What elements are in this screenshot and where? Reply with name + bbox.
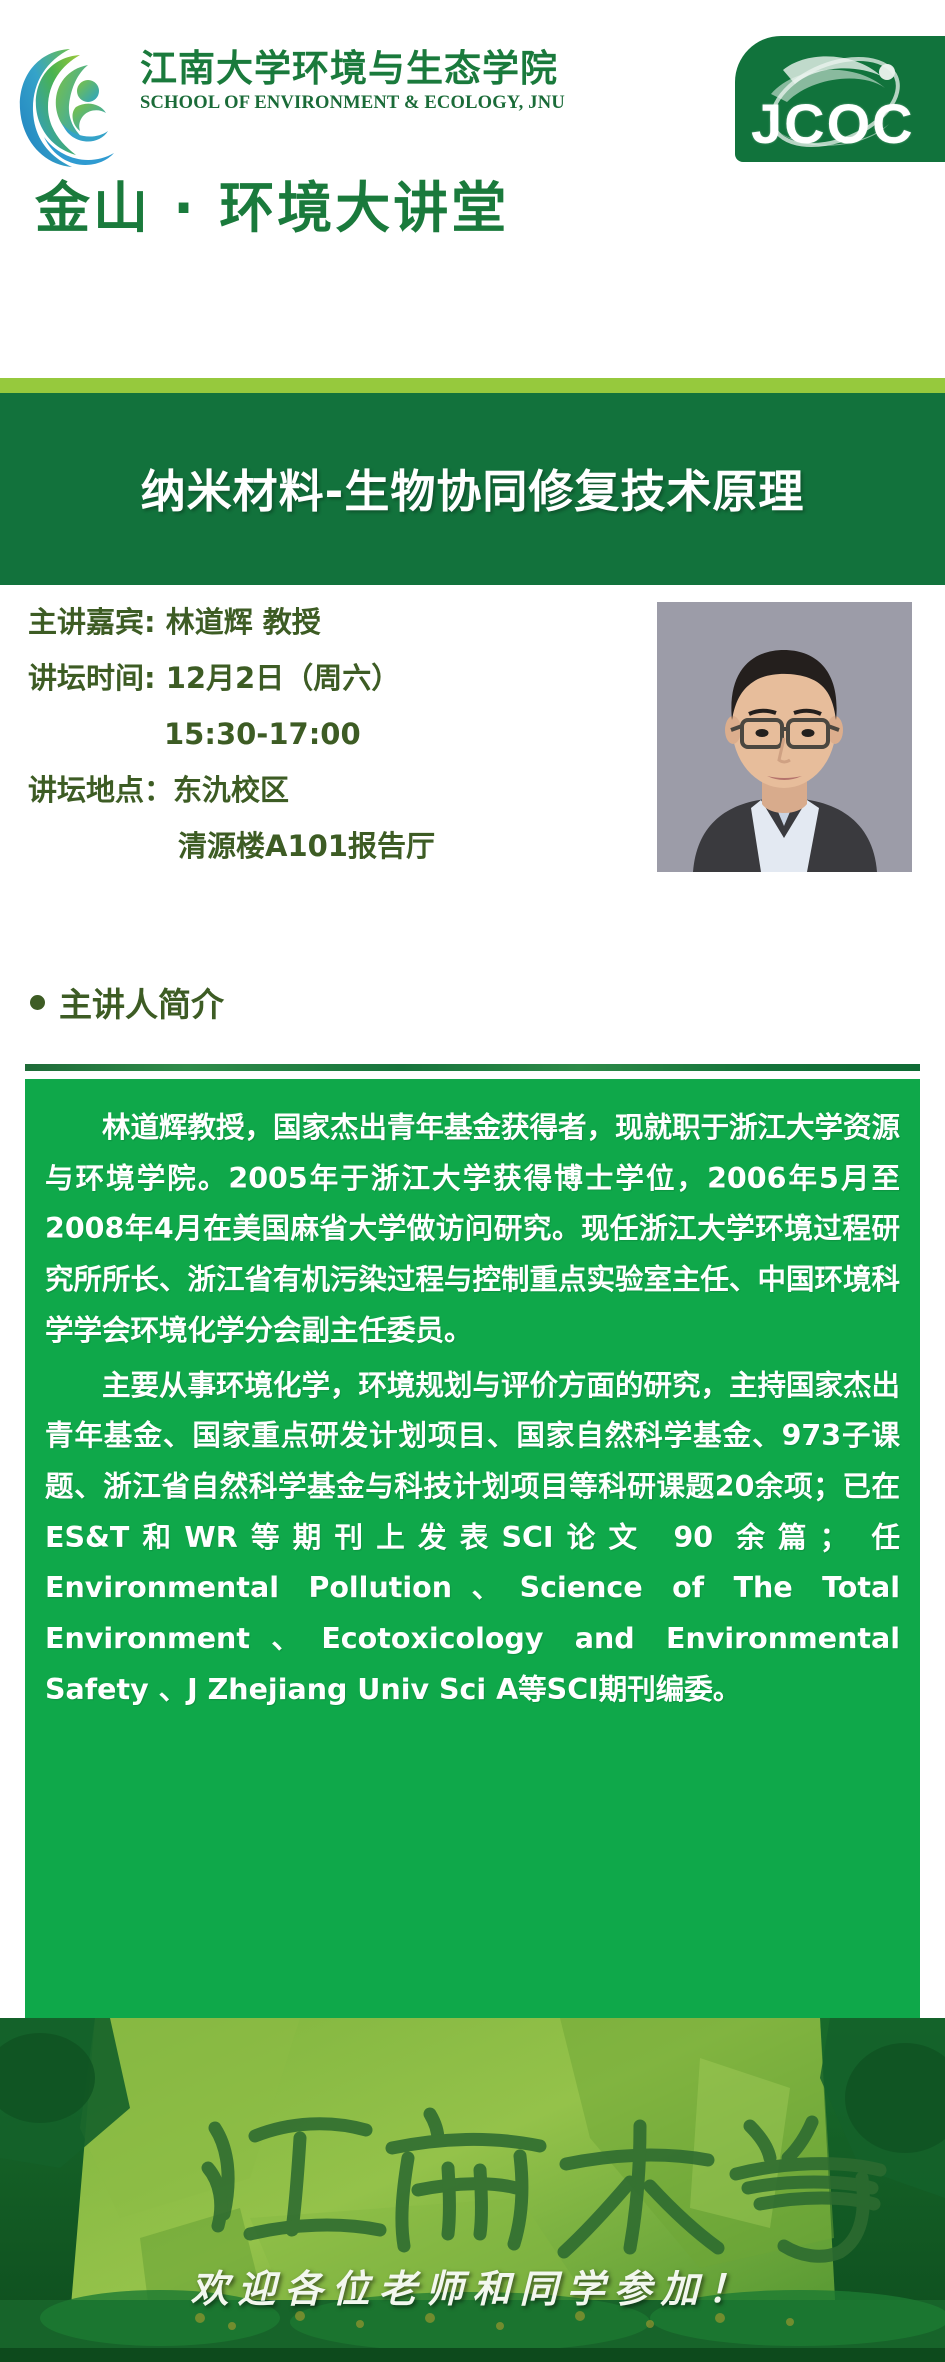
venue-row-2: 清源楼A101报告厅 xyxy=(28,832,628,861)
bio-paragraph-1: 林道辉教授，国家杰出青年基金获得者，现就职于浙江大学资源与环境学院。2005年于… xyxy=(45,1103,900,1357)
lecture-title: 纳米材料-生物协同修复技术原理 xyxy=(0,455,945,520)
section-divider xyxy=(25,1064,920,1071)
poster-root: 江南大学环境与生态学院 SCHOOL OF ENVIRONMENT & ECOL… xyxy=(0,0,945,2362)
bullet-dot-icon xyxy=(30,995,45,1010)
title-band-light-stripe xyxy=(0,378,945,393)
jcoc-badge: JCOC xyxy=(735,36,945,162)
bio-paragraph-2: 主要从事环境化学，环境规划与评价方面的研究，主持国家杰出青年基金、国家重点研发计… xyxy=(45,1361,900,1716)
bio-heading: 主讲人简介 xyxy=(30,978,224,1026)
time-row-2: 15:30-17:00 xyxy=(28,720,628,749)
series-title: 金山 · 环境大讲堂 xyxy=(35,163,509,243)
jcoc-label: JCOC xyxy=(751,96,945,152)
speaker-row: 主讲嘉宾: 林道辉 教授 xyxy=(28,608,628,637)
school-name-en: SCHOOL OF ENVIRONMENT & ECOLOGY, JNU xyxy=(140,93,700,114)
bio-heading-label: 主讲人简介 xyxy=(59,978,224,1026)
school-logo-icon xyxy=(14,45,126,170)
poster-header: 江南大学环境与生态学院 SCHOOL OF ENVIRONMENT & ECOL… xyxy=(0,0,945,160)
time-row: 讲坛时间: 12月2日（周六） xyxy=(28,664,628,693)
lecture-details: 主讲嘉宾: 林道辉 教授 讲坛时间: 12月2日（周六） 15:30-17:00… xyxy=(28,608,628,888)
speaker-portrait xyxy=(657,602,912,872)
bio-box: 林道辉教授，国家杰出青年基金获得者，现就职于浙江大学资源与环境学院。2005年于… xyxy=(25,1079,920,2030)
welcome-text: 欢迎各位老师和同学参加！ xyxy=(0,2258,945,2313)
school-name-cn: 江南大学环境与生态学院 xyxy=(140,48,700,89)
venue-row: 讲坛地点：东氿校区 xyxy=(28,776,628,805)
school-name-block: 江南大学环境与生态学院 SCHOOL OF ENVIRONMENT & ECOL… xyxy=(140,48,700,114)
bio-text: 林道辉教授，国家杰出青年基金获得者，现就职于浙江大学资源与环境学院。2005年于… xyxy=(45,1103,900,1716)
